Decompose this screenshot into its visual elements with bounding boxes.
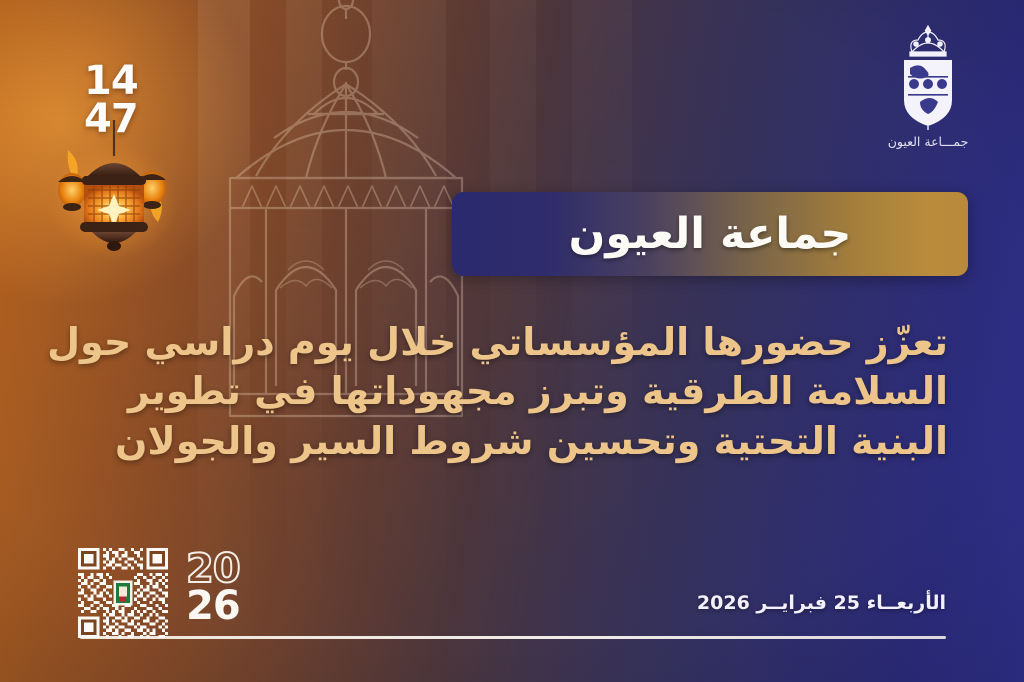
crest-caption: جمـــاعة العيون xyxy=(874,134,982,149)
page-title: جماعة العيون xyxy=(569,213,852,256)
gregorian-year-bottom: 26 xyxy=(186,588,240,625)
headline-text: تعزّز حضورها المؤسساتي خلال يوم دراسي حو… xyxy=(68,318,948,466)
title-banner: جماعة العيون xyxy=(452,192,968,276)
commune-crest-logo: جمـــاعة العيون xyxy=(874,22,982,162)
poster-root: 14 47 xyxy=(0,0,1024,682)
qr-code-icon[interactable] xyxy=(78,548,168,638)
bottom-divider xyxy=(80,636,946,639)
hijri-year-top: 14 xyxy=(84,62,138,100)
headline-line-1: تعزّز حضورها المؤسساتي خلال يوم دراسي حو… xyxy=(68,318,948,367)
coat-of-arms-crown-shield-icon xyxy=(886,22,970,130)
headline-line-2: السلامة الطرقية وتبرز مجهوداتها في تطوير xyxy=(68,367,948,416)
gregorian-year: 20 26 xyxy=(186,551,240,625)
glowing-lantern-icon xyxy=(44,120,184,270)
event-date: الأربعــاء 25 فبرايــر 2026 xyxy=(697,592,946,614)
headline-line-3: البنية التحتية وتحسين شروط السير والجولا… xyxy=(68,417,948,466)
